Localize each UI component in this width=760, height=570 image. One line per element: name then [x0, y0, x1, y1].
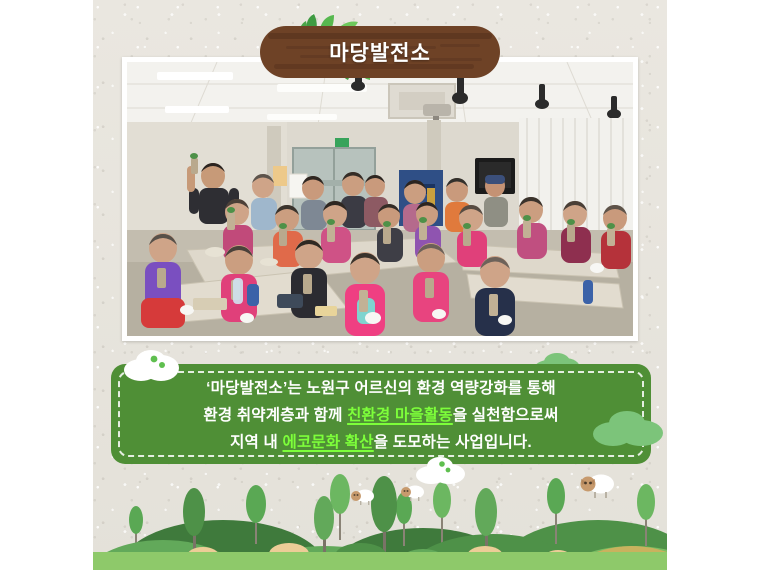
poster-canvas: ‘마당발전소’는 노원구 어르신의 환경 역량강화를 통해 환경 취약계층과 함…: [0, 0, 760, 570]
desc-seg-plain: 환경 취약계층과 함께: [203, 407, 347, 424]
desc-seg-plain: 을 실천함으로써: [453, 407, 559, 424]
poster-card: ‘마당발전소’는 노원구 어르신의 환경 역량강화를 통해 환경 취약계층과 함…: [93, 0, 667, 570]
group-photo-frame: [122, 57, 638, 341]
cloud-right-edge: [591, 409, 667, 452]
desc-seg-highlight-eco-village: 친환경 마을활동: [347, 407, 453, 424]
description-box: ‘마당발전소’는 노원구 어르신의 환경 역량강화를 통해 환경 취약계층과 함…: [111, 364, 651, 464]
landscape-illustration: [93, 460, 667, 570]
description-line-2: 환경 취약계층과 함께 친환경 마을활동을 실천함으로써: [203, 403, 558, 425]
description-line-3: 지역 내 에코문화 확산을 도모하는 사업입니다.: [230, 430, 532, 452]
group-photo-svg: [127, 62, 633, 336]
title-sign: 마당발전소: [260, 14, 500, 78]
group-photo: [127, 62, 633, 336]
desc-seg-plain: ‘마당발전소’는 노원구 어르신의 환경 역량강화를 통해: [206, 380, 556, 397]
desc-seg-plain: 지역 내: [230, 434, 282, 451]
desc-seg-plain: 을 도모하는 사업입니다.: [374, 434, 532, 451]
sheep-right: [578, 474, 616, 499]
sign-title-text: 마당발전소: [260, 26, 500, 78]
description-line-1: ‘마당발전소’는 노원구 어르신의 환경 역량강화를 통해: [206, 376, 556, 398]
cloud-top-left: [121, 348, 183, 387]
sheep-left: [350, 489, 376, 506]
desc-seg-highlight-eco-culture: 에코문화 확산: [283, 434, 374, 451]
cloud-bottom-center: [413, 455, 469, 490]
description-text: ‘마당발전소’는 노원구 어르신의 환경 역량강화를 통해 환경 취약계층과 함…: [111, 364, 651, 464]
